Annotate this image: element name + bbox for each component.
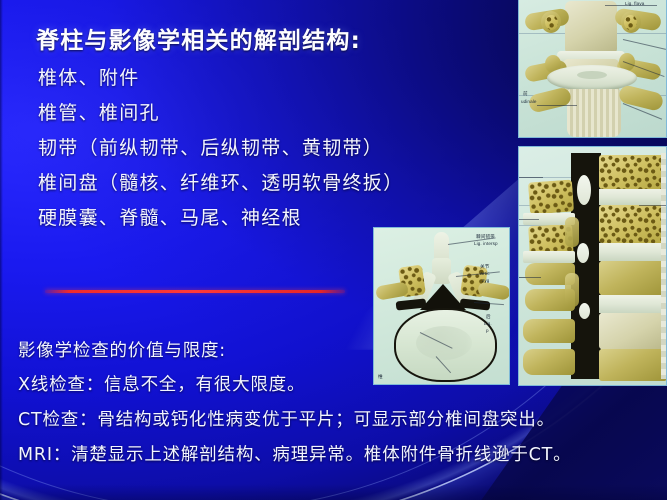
figure-label: udinale (521, 99, 537, 105)
red-divider-line (45, 290, 345, 293)
bullet-line: 硬膜囊、脊髓、马尾、神经根 (38, 203, 302, 230)
figure-label: Lig. (484, 321, 492, 327)
figure-lumbar-vertebra-axial: 棘间韧带 Lig. intersp 关节 Artic zyg 后 Lig. p … (373, 227, 510, 385)
figure-lumbar-vertebrae-coronal: Lig. flava udinale 前 (518, 0, 667, 138)
figure-label: 后 (486, 314, 491, 320)
figure-label: Lig. flava (625, 1, 644, 7)
slide-title: 脊柱与影像学相关的解剖结构: (36, 21, 361, 55)
figure-label: 关节 (480, 264, 489, 270)
bullet-line: 椎体、附件 (38, 63, 140, 90)
figure-label: p (486, 328, 489, 334)
figure-label: Lig. intersp (474, 241, 498, 247)
figure-label: Artic (480, 271, 490, 277)
decorative-bottom-strip (0, 484, 667, 500)
presentation-slide: 脊柱与影像学相关的解剖结构: 椎体、附件 椎管、椎间孔 韧带（前纵韧带、后纵韧带… (0, 0, 667, 500)
decorative-left-rim (0, 0, 3, 500)
bullet-line: 韧带（前纵韧带、后纵韧带、黄韧带） (38, 133, 383, 160)
figure-label: zyg (482, 278, 489, 284)
lower-text-line: CT检查：骨结构或钙化性病变优于平片；可显示部分椎间盘突出。 (18, 406, 555, 431)
bullet-line: 椎管、椎间孔 (38, 98, 160, 125)
bullet-line: 椎间盘（髓核、纤维环、透明软骨终扳） (38, 168, 403, 195)
figure-label: 棘间韧带 (476, 234, 495, 240)
lower-text-line: 影像学检查的价值与限度: (18, 337, 226, 362)
lower-text-line: MRI：清楚显示上述解剖结构、病理异常。椎体附件骨折线逊于CT。 (18, 441, 571, 466)
lower-text-line: X线检查：信息不全，有很大限度。 (18, 371, 305, 396)
figure-lumbar-spine-sagittal-section (518, 146, 667, 386)
